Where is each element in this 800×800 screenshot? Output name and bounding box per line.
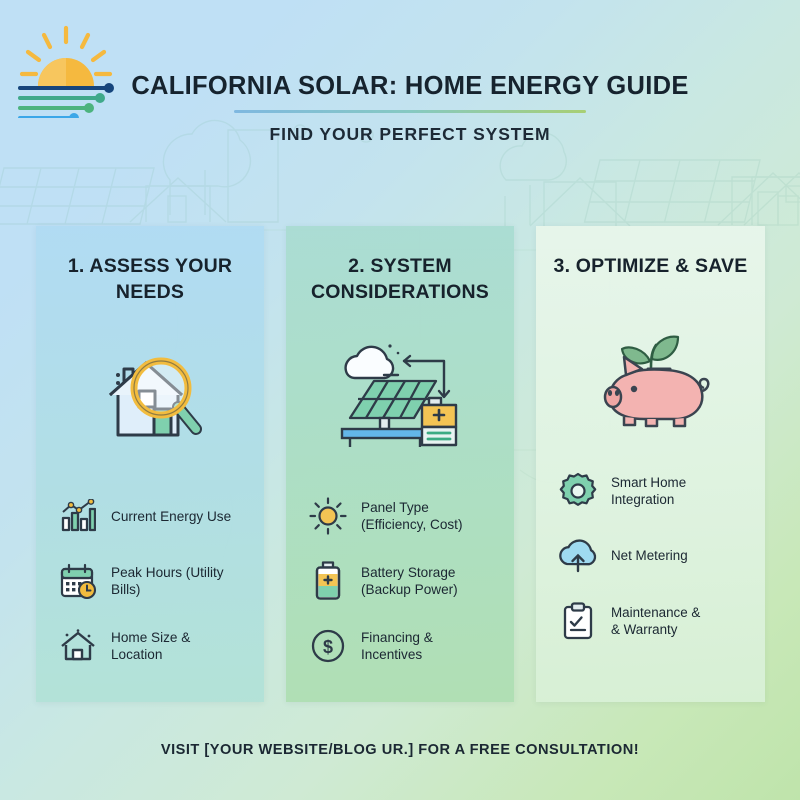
dollar-circle-icon: $	[308, 626, 348, 666]
card-title: 3. OPTIMIZE & SAVE	[550, 254, 751, 280]
infographic-page: CALIFORNIA SOLAR: HOME ENERGY GUIDE FIND…	[0, 0, 800, 800]
house-with-magnifying-glass-icon	[90, 335, 210, 453]
solar-panel-with-battery-icon	[328, 333, 472, 455]
footer-cta[interactable]: VISIT [YOUR WEBSITE/BLOG UR.] FOR A FREE…	[0, 742, 800, 758]
sun-icon	[308, 496, 348, 536]
card-title: 1. ASSESS YOUR NEEDS	[50, 254, 250, 305]
card-assess-your-needs[interactable]: 1. ASSESS YOUR NEEDS	[36, 226, 264, 702]
card-title: 2. SYSTEM CONSIDERATIONS	[300, 254, 500, 305]
bar-chart-growth-icon	[58, 496, 98, 536]
list-item-label: Maintenance & & Warranty	[611, 604, 700, 638]
card-hero	[50, 319, 250, 469]
list-item-label: Financing & Incentives	[361, 629, 494, 664]
list-item[interactable]: Peak Hours (Utility Bills)	[58, 558, 244, 604]
svg-text:$: $	[323, 637, 333, 657]
card-optimize-and-save[interactable]: 3. OPTIMIZE & SAVE	[536, 226, 765, 702]
list-item[interactable]: $ Financing & Incentives	[308, 623, 494, 669]
list-item-label: Battery Storage (Backup Power)	[361, 564, 458, 599]
piggy-bank-with-sprout-icon	[586, 309, 716, 429]
house-icon	[58, 626, 98, 666]
list-item[interactable]: Current Energy Use	[58, 493, 244, 539]
card-hero	[550, 294, 751, 444]
list-item-label: Home Size & Location	[111, 629, 244, 664]
list-item[interactable]: Battery Storage (Backup Power)	[308, 558, 494, 604]
list-item-label: Peak Hours (Utility Bills)	[111, 564, 244, 599]
battery-icon	[308, 561, 348, 601]
calendar-clock-icon	[58, 561, 98, 601]
clipboard-check-icon	[558, 601, 598, 641]
card-item-list: Current Energy Use	[50, 493, 250, 669]
gear-icon	[558, 471, 598, 511]
list-item[interactable]: Home Size & Location	[58, 623, 244, 669]
card-system-considerations[interactable]: 2. SYSTEM CONSIDERATIONS	[286, 226, 514, 702]
cloud-upload-icon	[558, 536, 598, 576]
list-item-label: Panel Type (Efficiency, Cost)	[361, 499, 462, 534]
card-hero	[300, 319, 500, 469]
card-item-list: Panel Type (Efficiency, Cost)	[300, 493, 500, 669]
list-item-label: Net Metering	[611, 547, 688, 564]
list-item[interactable]: Smart Home Integration	[558, 468, 745, 514]
list-item-label: Current Energy Use	[111, 508, 231, 525]
list-item[interactable]: Net Metering	[558, 533, 745, 579]
list-item[interactable]: Panel Type (Efficiency, Cost)	[308, 493, 494, 539]
card-item-list: Smart Home Integration Net Metering	[550, 468, 751, 644]
list-item[interactable]: Maintenance & & Warranty	[558, 598, 745, 644]
list-item-label: Smart Home Integration	[611, 474, 686, 508]
step-cards: 1. ASSESS YOUR NEEDS	[0, 0, 800, 800]
